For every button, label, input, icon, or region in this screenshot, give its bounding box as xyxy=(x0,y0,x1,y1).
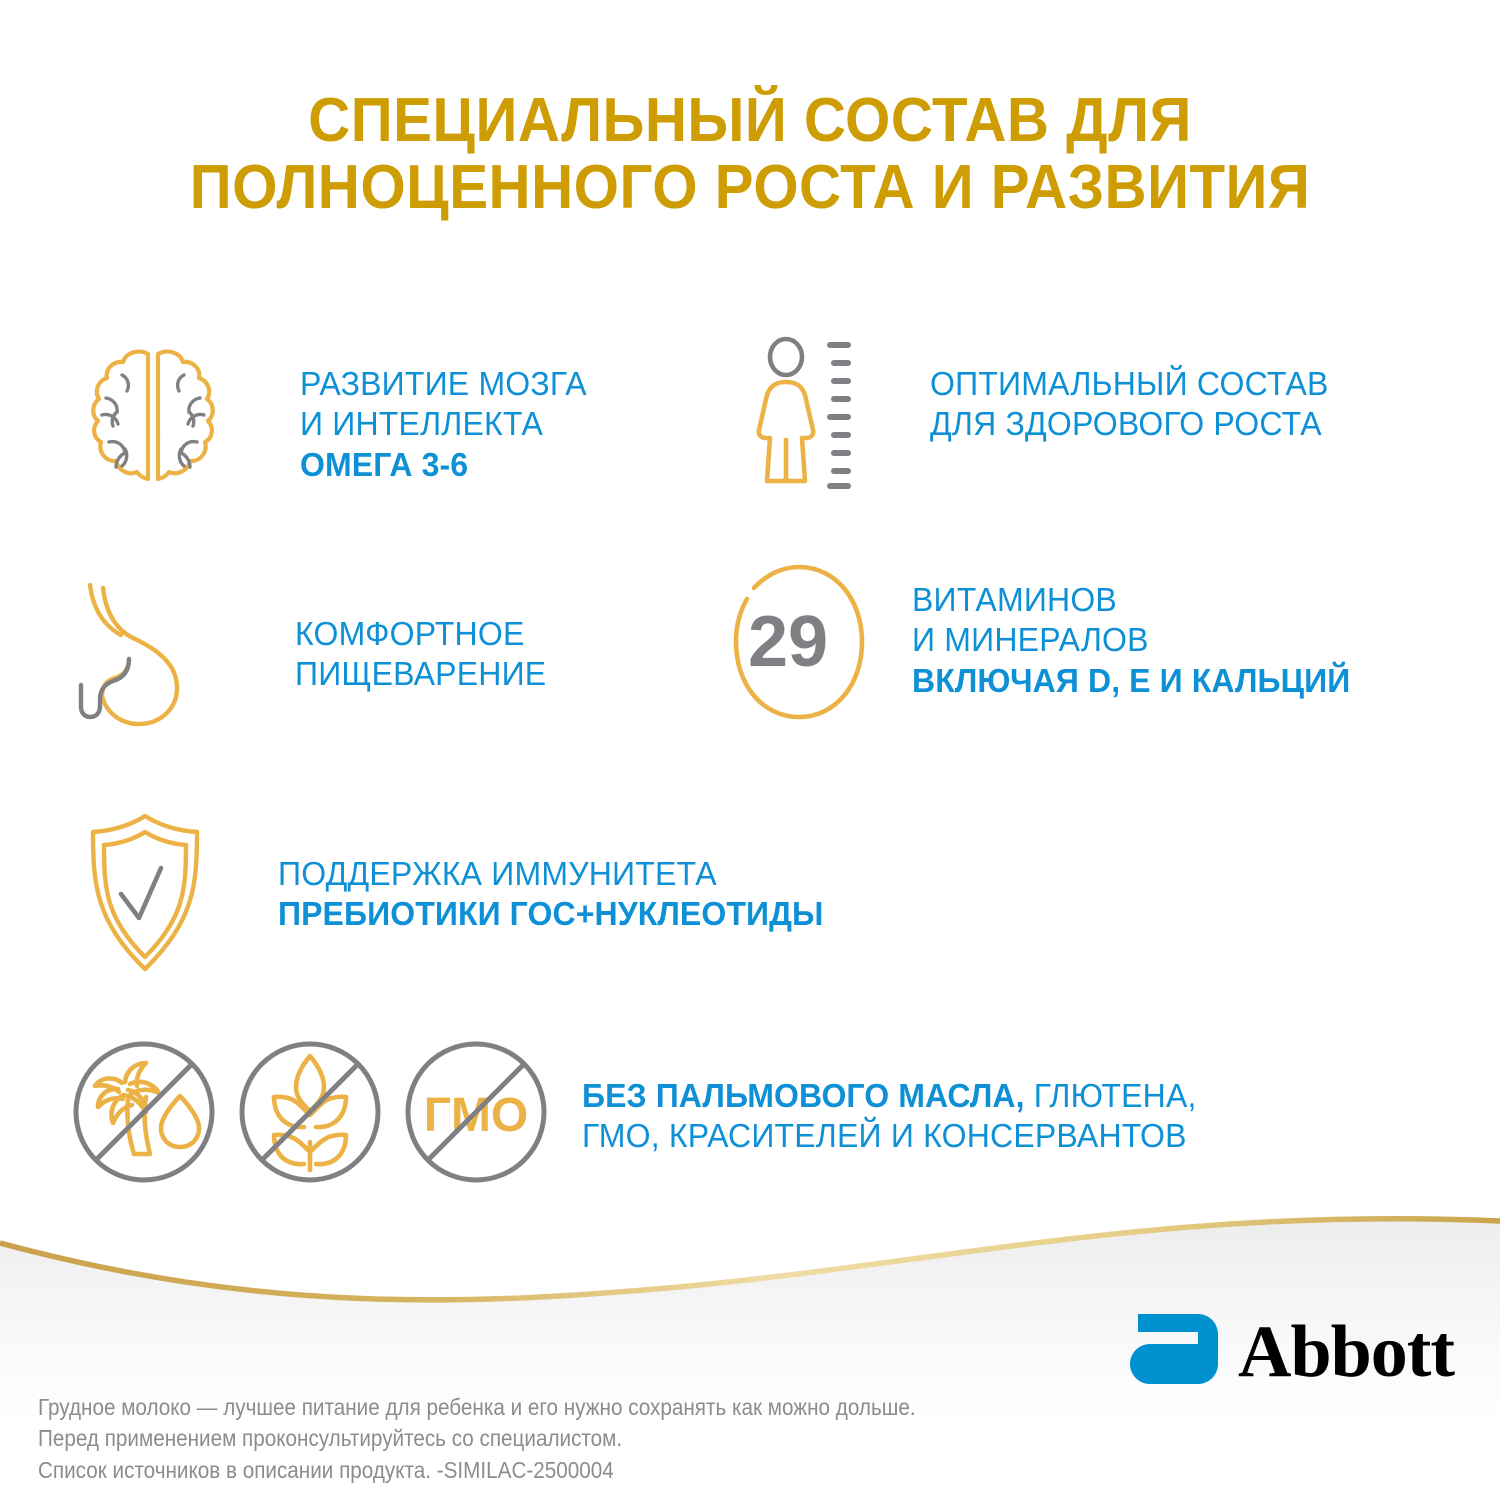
stomach-icon xyxy=(78,578,223,733)
feature-brain-line-2: И ИНТЕЛЛЕКТА xyxy=(300,404,587,444)
feature-free-from-text: БЕЗ ПАЛЬМОВОГО МАСЛА, ГЛЮТЕНА, ГМО, КРАС… xyxy=(582,1076,1197,1157)
feature-vitamins-minerals: 29 ВИТАМИНОВ И МИНЕРАЛОВ ВКЛЮЧАЯ D, E И … xyxy=(718,558,1364,731)
feature-immunity-line-2: ПРЕБИОТИКИ ГОС+НУКЛЕОТИДЫ xyxy=(278,894,823,934)
abbott-a-mark-icon xyxy=(1128,1312,1220,1391)
feature-vitamins-text: ВИТАМИНОВ И МИНЕРАЛОВ ВКЛЮЧАЯ D, E И КАЛ… xyxy=(912,580,1350,701)
vitamins-count: 29 xyxy=(748,602,828,682)
feature-vitamins-line-3: ВКЛЮЧАЯ D, E И КАЛЬЦИЙ xyxy=(912,661,1350,701)
page-title: СПЕЦИАЛЬНЫЙ СОСТАВ ДЛЯ ПОЛНОЦЕННОГО РОСТ… xyxy=(45,88,1455,222)
feature-digestion-line-1: КОМФОРТНОЕ xyxy=(295,614,546,654)
brain-icon xyxy=(78,342,228,507)
free-from-line-1: БЕЗ ПАЛЬМОВОГО МАСЛА, ГЛЮТЕНА, xyxy=(582,1076,1197,1116)
disclaimer-line-2: Перед применением проконсультируйтесь со… xyxy=(38,1423,1006,1454)
feature-healthy-growth: ОПТИМАЛЬНЫЙ СОСТАВ ДЛЯ ЗДОРОВОГО РОСТА xyxy=(752,336,1341,496)
feature-list: РАЗВИТИЕ МОЗГА И ИНТЕЛЛЕКТА ОМЕГА 3-6 xyxy=(0,320,1500,1220)
feature-growth-text: ОПТИМАЛЬНЫЙ СОСТАВ ДЛЯ ЗДОРОВОГО РОСТА xyxy=(930,364,1329,445)
child-height-ruler-icon xyxy=(752,336,870,496)
feature-brain-development: РАЗВИТИЕ МОЗГА И ИНТЕЛЛЕКТА ОМЕГА 3-6 xyxy=(78,342,596,507)
disclaimer: Грудное молоко — лучшее питание для ребе… xyxy=(38,1392,1006,1486)
disclaimer-line-3: Список источников в описании продукта. -… xyxy=(38,1455,1006,1486)
feature-growth-line-2: ДЛЯ ЗДОРОВОГО РОСТА xyxy=(930,404,1329,444)
free-from-rest: ГЛЮТЕНА, xyxy=(1025,1077,1197,1114)
page-title-line-2: ПОЛНОЦЕННОГО РОСТА И РАЗВИТИЯ xyxy=(45,155,1455,222)
page-title-line-1: СПЕЦИАЛЬНЫЙ СОСТАВ ДЛЯ xyxy=(45,88,1455,155)
feature-immunity-line-1: ПОДДЕРЖКА ИММУНИТЕТА xyxy=(278,854,823,894)
no-gluten-icon xyxy=(236,1038,384,1191)
feature-free-from: ГМО БЕЗ ПАЛЬМОВОГО МАСЛА, ГЛЮТЕНА, ГМО, … xyxy=(70,1038,1216,1191)
free-from-line-2: ГМО, КРАСИТЕЛЕЙ И КОНСЕРВАНТОВ xyxy=(582,1116,1197,1156)
feature-brain-line-3: ОМЕГА 3-6 xyxy=(300,445,587,485)
feature-digestion-line-2: ПИЩЕВАРЕНИЕ xyxy=(295,654,546,694)
feature-digestion-text: КОМФОРТНОЕ ПИЩЕВАРЕНИЕ xyxy=(295,614,546,695)
free-from-bold: БЕЗ ПАЛЬМОВОГО МАСЛА, xyxy=(582,1077,1025,1114)
disclaimer-line-1: Грудное молоко — лучшее питание для ребе… xyxy=(38,1392,1006,1423)
feature-immunity-text: ПОДДЕРЖКА ИММУНИТЕТА ПРЕБИОТИКИ ГОС+НУКЛ… xyxy=(278,854,823,935)
feature-vitamins-line-2: И МИНЕРАЛОВ xyxy=(912,620,1350,660)
feature-vitamins-line-1: ВИТАМИНОВ xyxy=(912,580,1350,620)
feature-growth-line-1: ОПТИМАЛЬНЫЙ СОСТАВ xyxy=(930,364,1329,404)
number-circle-icon: 29 xyxy=(718,558,876,731)
no-gmo-icon: ГМО xyxy=(402,1038,550,1191)
promo-page: СПЕЦИАЛЬНЫЙ СОСТАВ ДЛЯ ПОЛНОЦЕННОГО РОСТ… xyxy=(0,0,1500,1500)
feature-immunity-support: ПОДДЕРЖКА ИММУНИТЕТА ПРЕБИОТИКИ ГОС+НУКЛ… xyxy=(80,810,840,980)
shield-check-icon xyxy=(80,810,210,980)
abbott-wordmark: Abbott xyxy=(1238,1315,1454,1389)
feature-brain-line-1: РАЗВИТИЕ МОЗГА xyxy=(300,364,587,404)
abbott-logo: Abbott xyxy=(1128,1312,1454,1391)
free-from-icon-group: ГМО xyxy=(70,1038,550,1191)
no-palm-oil-icon xyxy=(70,1038,218,1191)
feature-brain-text: РАЗВИТИЕ МОЗГА И ИНТЕЛЛЕКТА ОМЕГА 3-6 xyxy=(300,364,587,485)
feature-comfortable-digestion: КОМФОРТНОЕ ПИЩЕВАРЕНИЕ xyxy=(78,578,554,733)
